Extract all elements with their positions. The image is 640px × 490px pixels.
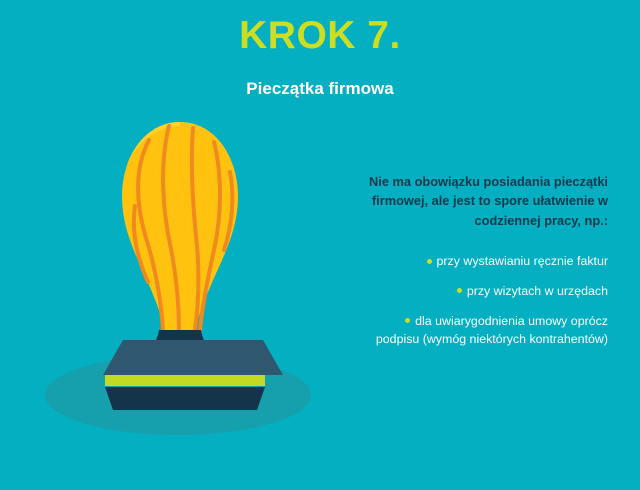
list-item-label: przy wizytach w urzędach — [467, 284, 608, 298]
page-subtitle: Pieczątka firmowa — [0, 80, 640, 99]
bullet-icon — [405, 318, 410, 323]
stamp-base-stripe — [105, 375, 265, 386]
list-item: dla uwiarygodnienia umowy oprócz podpisu… — [368, 312, 608, 349]
slide-canvas: KROK 7. Pieczątka firmowa — [0, 0, 640, 490]
benefit-list: przy wystawianiu ręcznie faktur przy wiz… — [368, 252, 608, 348]
rubber-stamp-illustration — [30, 110, 330, 440]
bullet-icon — [457, 288, 462, 293]
stamp-base-bottom — [105, 387, 265, 410]
list-item: przy wystawianiu ręcznie faktur — [368, 252, 608, 271]
bullet-icon — [427, 259, 432, 264]
intro-paragraph: Nie ma obowiązku posiadania pieczątki fi… — [368, 172, 608, 230]
page-title: KROK 7. — [0, 16, 640, 55]
list-item-label: dla uwiarygodnienia umowy oprócz podpisu… — [376, 314, 608, 347]
list-item: przy wizytach w urzędach — [368, 282, 608, 301]
stamp-handle — [122, 122, 238, 332]
stamp-base-body — [103, 340, 283, 375]
list-item-label: przy wystawianiu ręcznie faktur — [437, 254, 608, 268]
info-panel: Nie ma obowiązku posiadania pieczątki fi… — [368, 172, 608, 349]
